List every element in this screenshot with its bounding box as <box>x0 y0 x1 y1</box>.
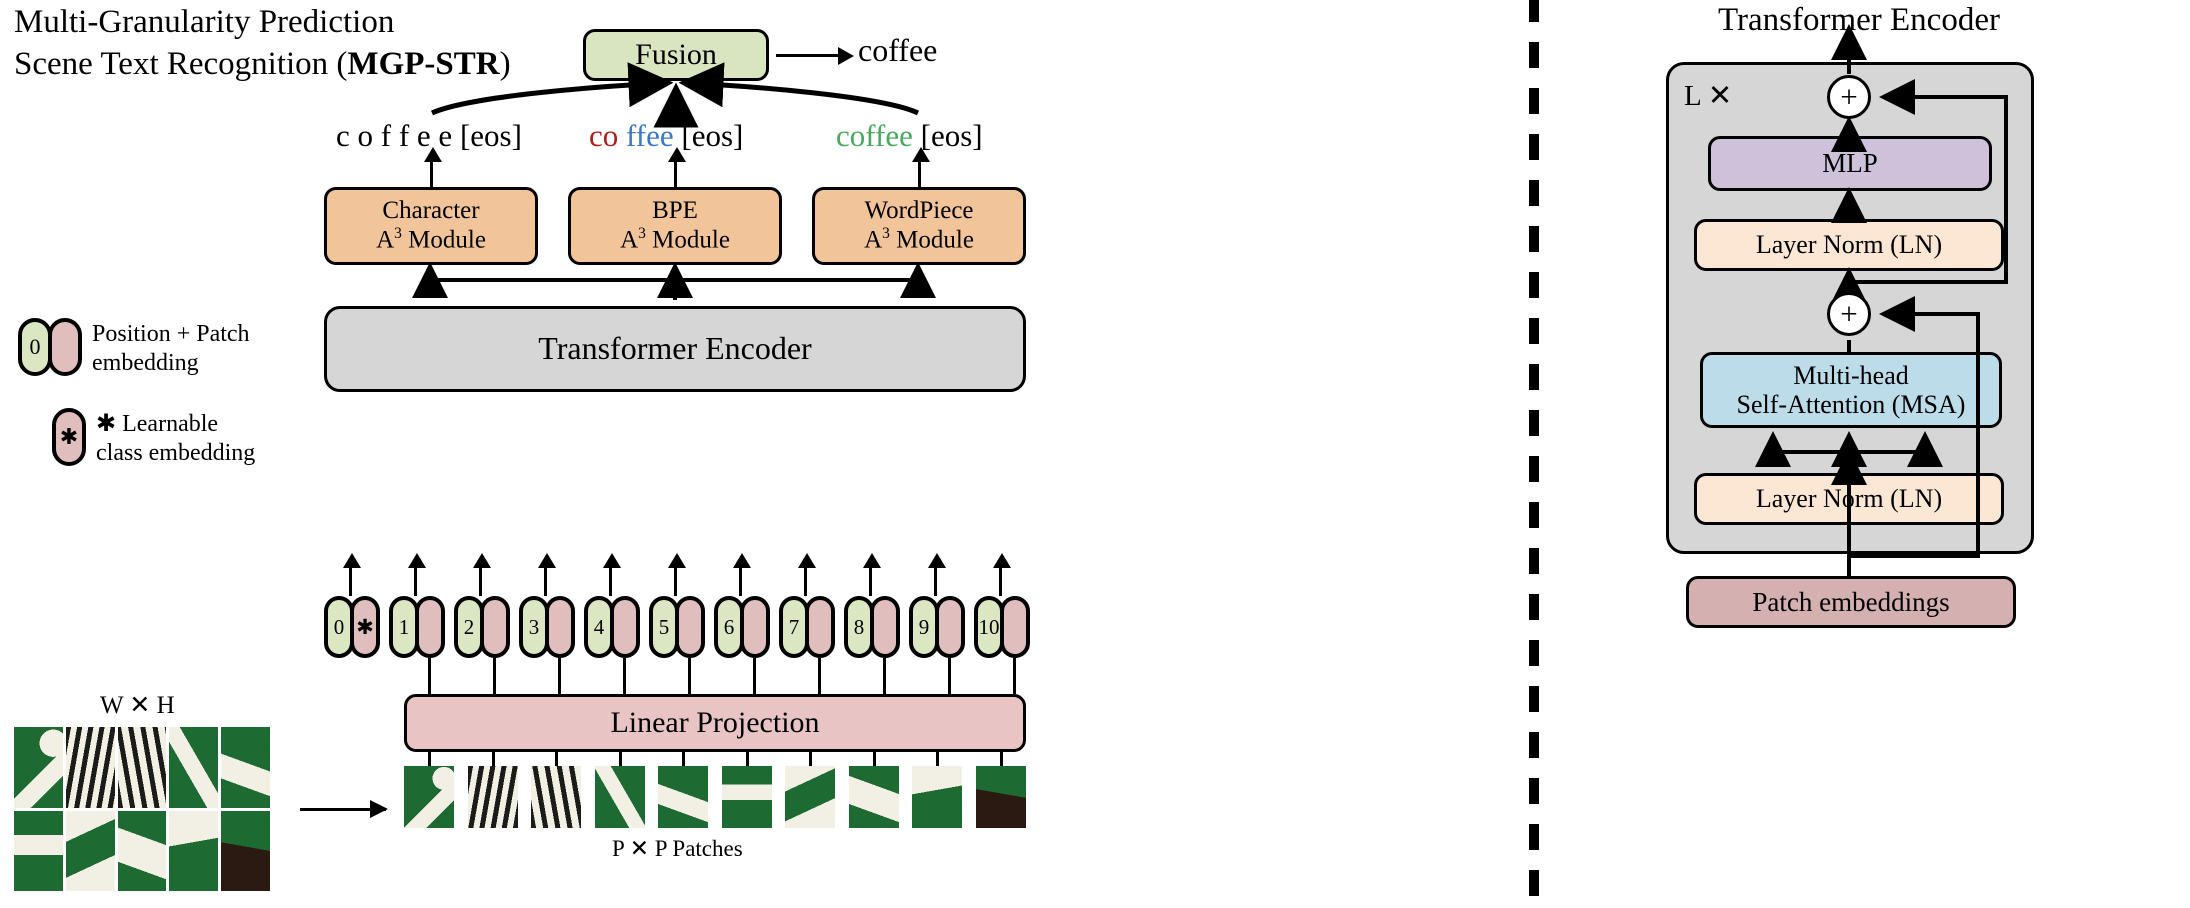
title-acronym: MGP-STR <box>347 46 499 82</box>
fusion-box[interactable]: Fusion <box>583 29 769 81</box>
prediction-bpe-segment-0: co <box>589 118 626 153</box>
prediction-character-segment-1: [eos] <box>460 118 522 153</box>
token-embedding-row: 0✱12345678910 <box>324 596 1026 658</box>
linear-projection-box[interactable]: Linear Projection <box>404 694 1026 752</box>
patch-embedding-6 <box>740 596 770 658</box>
token-pair-7: 7 <box>779 596 831 658</box>
patch-embedding-3 <box>545 596 575 658</box>
projection-line-7 <box>818 658 821 694</box>
image-patch-0 <box>404 766 454 828</box>
multi-head-self-attention-box[interactable]: Multi-headSelf-Attention (MSA) <box>1700 352 2002 428</box>
panel-divider <box>1529 0 1539 908</box>
char-module-line1: Character <box>382 197 479 224</box>
legend-text-2-line1: ✱ Learnable <box>96 410 255 439</box>
patch-embedding-9 <box>935 596 965 658</box>
title-line-2: Scene Text Recognition (MGP-STR) <box>14 44 574 86</box>
token-arrow-up-8 <box>869 566 872 596</box>
legend-text-2-line2: class embedding <box>96 439 255 468</box>
token-pair-0: 0✱ <box>324 596 376 658</box>
projection-line-3 <box>558 658 561 694</box>
bpe-module-line2-pre: A <box>620 227 638 254</box>
legend-pill-patch <box>48 318 82 376</box>
patch-embedding-10 <box>1000 596 1030 658</box>
bpe-module-sup: 3 <box>638 225 646 242</box>
patch-embedding-8 <box>870 596 900 658</box>
patch-embedding-2 <box>480 596 510 658</box>
bpe-module-line2-post: Module <box>646 227 730 254</box>
legend-pill-class-token: ✱ <box>52 408 86 466</box>
encoder-detail-title: Transformer Encoder <box>1718 2 2000 39</box>
source-image-cell-9 <box>221 811 270 892</box>
residual-add-bottom: + <box>1827 292 1871 336</box>
image-patch-3 <box>595 766 645 828</box>
source-image-cell-8 <box>169 811 218 892</box>
wp-module-line2-pre: A <box>864 227 882 254</box>
image-patch-2 <box>531 766 581 828</box>
title-line-2-suffix: ) <box>500 46 511 82</box>
layer-norm-top-box[interactable]: Layer Norm (LN) <box>1694 219 2004 271</box>
projection-line-8 <box>883 658 886 694</box>
source-image-grid <box>14 727 270 891</box>
image-patch-7 <box>849 766 899 828</box>
layer-repeat-label: L ✕ <box>1684 78 1732 113</box>
projection-line-5 <box>688 658 691 694</box>
token-arrow-up-4 <box>609 566 612 596</box>
wp-module-line2-post: Module <box>890 227 974 254</box>
token-pair-1: 1 <box>389 596 441 658</box>
source-image-cell-0 <box>14 727 63 808</box>
token-pair-2: 2 <box>454 596 506 658</box>
patch-embeddings-box[interactable]: Patch embeddings <box>1686 576 2016 628</box>
legend-pill-position: 0 <box>18 318 52 376</box>
projection-line-2 <box>493 658 496 694</box>
token-pair-5: 5 <box>649 596 701 658</box>
patch-embedding-5 <box>675 596 705 658</box>
image-to-patches-arrow <box>300 808 386 811</box>
projection-line-4 <box>623 658 626 694</box>
token-pair-8: 8 <box>844 596 896 658</box>
image-patch-8 <box>912 766 962 828</box>
msa-line1: Multi-head <box>1793 361 1909 390</box>
prediction-bpe: co ffee [eos] <box>589 118 743 154</box>
title-line-1: Multi-Granularity Prediction <box>14 2 574 44</box>
token-arrow-up-9 <box>934 566 937 596</box>
token-pair-9: 9 <box>909 596 961 658</box>
char-module-sup: 3 <box>394 225 402 242</box>
wp-module-sup: 3 <box>882 225 890 242</box>
prediction-bpe-segment-2: [eos] <box>681 118 743 153</box>
token-arrow-up-0 <box>349 566 352 596</box>
patches-label: P ✕ P Patches <box>612 836 743 862</box>
patch-embedding-1 <box>415 596 445 658</box>
projection-line-10 <box>1013 658 1016 694</box>
token-arrow-up-3 <box>544 566 547 596</box>
patch-embedding-7 <box>805 596 835 658</box>
patch-strip <box>404 766 1026 828</box>
token-pair-3: 3 <box>519 596 571 658</box>
projection-line-9 <box>948 658 951 694</box>
token-pair-10: 10 <box>974 596 1026 658</box>
image-patch-4 <box>658 766 708 828</box>
class-embedding-token: ✱ <box>350 596 380 658</box>
char-module-line2-post: Module <box>402 227 486 254</box>
token-arrow-up-1 <box>414 566 417 596</box>
source-image-cell-1 <box>66 727 115 808</box>
prediction-wordpiece-segment-0: coffee <box>836 118 921 153</box>
layer-norm-bottom-box[interactable]: Layer Norm (LN) <box>1694 473 2004 525</box>
arrow-char-module-to-prediction <box>430 160 433 188</box>
token-arrow-up-2 <box>479 566 482 596</box>
image-patch-5 <box>722 766 772 828</box>
source-image-cell-5 <box>14 811 63 892</box>
transformer-encoder-box[interactable]: Transformer Encoder <box>324 306 1026 392</box>
wp-module-line1: WordPiece <box>864 197 973 224</box>
source-image-cell-2 <box>118 727 167 808</box>
source-image-cell-3 <box>169 727 218 808</box>
image-patch-6 <box>785 766 835 828</box>
mlp-box[interactable]: MLP <box>1708 136 1992 191</box>
arrow-wordpiece-module-to-prediction <box>918 160 921 188</box>
token-pair-4: 4 <box>584 596 636 658</box>
image-patch-9 <box>976 766 1026 828</box>
source-image-cell-7 <box>118 811 167 892</box>
legend-class-embedding: ✱ ✱ Learnable class embedding <box>18 408 318 468</box>
token-arrow-up-5 <box>674 566 677 596</box>
image-dimension-label: W ✕ H <box>100 690 175 720</box>
token-pair-6: 6 <box>714 596 766 658</box>
legend-text-1-line1: Position + Patch <box>92 320 250 349</box>
legend-position-patch: 0 Position + Patch embedding <box>18 318 318 378</box>
projection-line-6 <box>753 658 756 694</box>
image-patch-1 <box>468 766 518 828</box>
fusion-output-text: coffee <box>858 32 937 69</box>
wordpiece-a3-module[interactable]: WordPiece A3 Module <box>812 187 1026 265</box>
legend-text-1-line2: embedding <box>92 349 250 378</box>
token-arrow-up-7 <box>804 566 807 596</box>
arrow-bpe-module-to-prediction <box>674 160 677 188</box>
token-arrow-up-6 <box>739 566 742 596</box>
source-image-cell-6 <box>66 811 115 892</box>
char-module-line2-pre: A <box>376 227 394 254</box>
residual-add-top: + <box>1827 75 1871 119</box>
msa-line2: Self-Attention (MSA) <box>1737 390 1966 419</box>
character-a3-module[interactable]: Character A3 Module <box>324 187 538 265</box>
bpe-a3-module[interactable]: BPE A3 Module <box>568 187 782 265</box>
page-title: Multi-Granularity Prediction Scene Text … <box>14 2 574 85</box>
fusion-output-arrow <box>776 54 840 57</box>
bpe-module-line1: BPE <box>652 197 698 224</box>
prediction-wordpiece: coffee [eos] <box>836 118 983 154</box>
projection-line-1 <box>428 658 431 694</box>
patch-embedding-4 <box>610 596 640 658</box>
token-arrow-up-10 <box>999 566 1002 596</box>
title-line-2-prefix: Scene Text Recognition ( <box>14 46 347 82</box>
source-image-cell-4 <box>221 727 270 808</box>
